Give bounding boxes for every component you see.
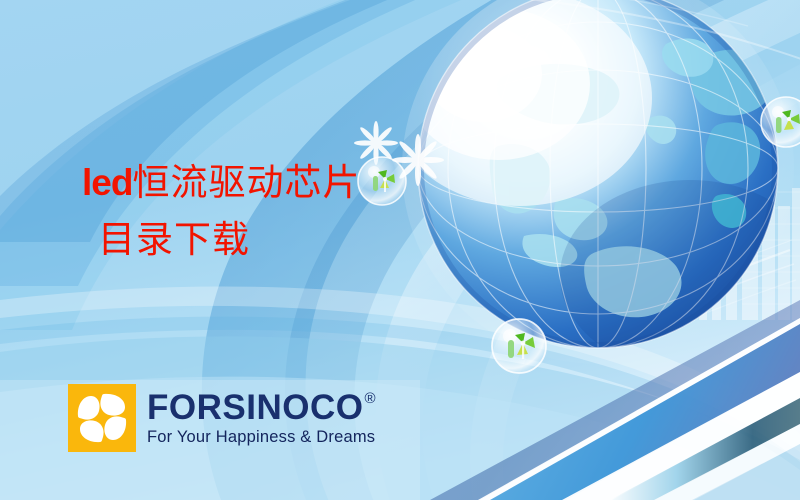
brand-tagline: For Your Happiness & Dreams [147,428,376,447]
brand-name: FORSINOCO [147,390,363,425]
headline-line-1: led恒流驱动芯片 [82,162,360,203]
brand-logo-lockup: FORSINOCO ® For Your Happiness & Dreams [68,384,376,452]
promo-banner: led恒流驱动芯片 目录下载 FORSINOCO ® For Your Happ… [0,0,800,500]
brand-wordmark: FORSINOCO ® [147,390,376,425]
bubble-pinwheel-center [492,319,546,373]
forsinoco-logo-mark [68,384,136,452]
headline-latin-prefix: led [82,162,132,203]
headline-cjk-part: 恒流驱动芯片 [132,161,360,204]
bubble-pinwheel-top [358,157,406,205]
logo-mark-square [68,384,136,452]
registered-trademark-icon: ® [364,391,376,406]
brand-text-block: FORSINOCO ® For Your Happiness & Dreams [147,390,376,447]
headline-line-2: 目录下载 [82,219,360,260]
headline-text-block: led恒流驱动芯片 目录下载 [82,162,360,261]
